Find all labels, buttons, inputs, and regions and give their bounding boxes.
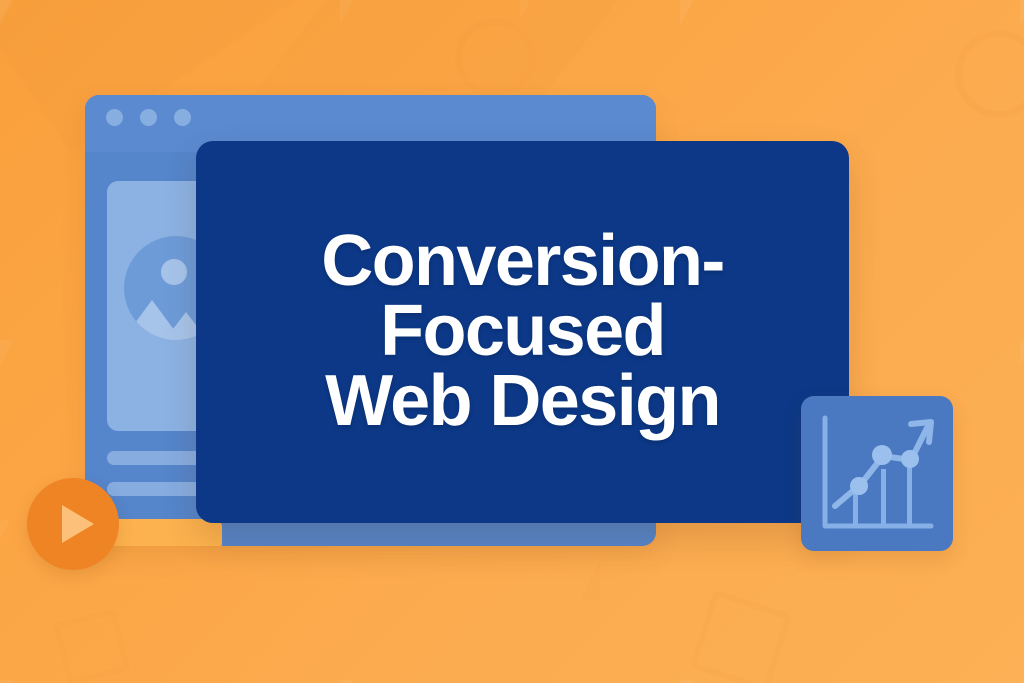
window-dot-1[interactable] (106, 109, 123, 126)
image-icon-sun (161, 259, 187, 285)
title-line-1: Conversion- (321, 227, 723, 297)
page-title: Conversion- Focused Web Design (293, 227, 751, 436)
title-line-2: Focused (321, 297, 723, 367)
headline-card: Conversion- Focused Web Design (196, 141, 849, 523)
play-button[interactable] (27, 478, 119, 570)
window-dot-3[interactable] (174, 109, 191, 126)
title-line-3: Web Design (321, 367, 723, 437)
background-circle-outline-1 (455, 18, 535, 98)
poster-canvas: Conversion- Focused Web Design (0, 0, 1024, 683)
play-icon (62, 505, 94, 543)
cta-button[interactable] (107, 519, 222, 546)
window-dot-2[interactable] (140, 109, 157, 126)
growth-chart-icon (801, 396, 953, 551)
growth-chart-tile (801, 396, 953, 551)
window-controls (106, 109, 191, 126)
